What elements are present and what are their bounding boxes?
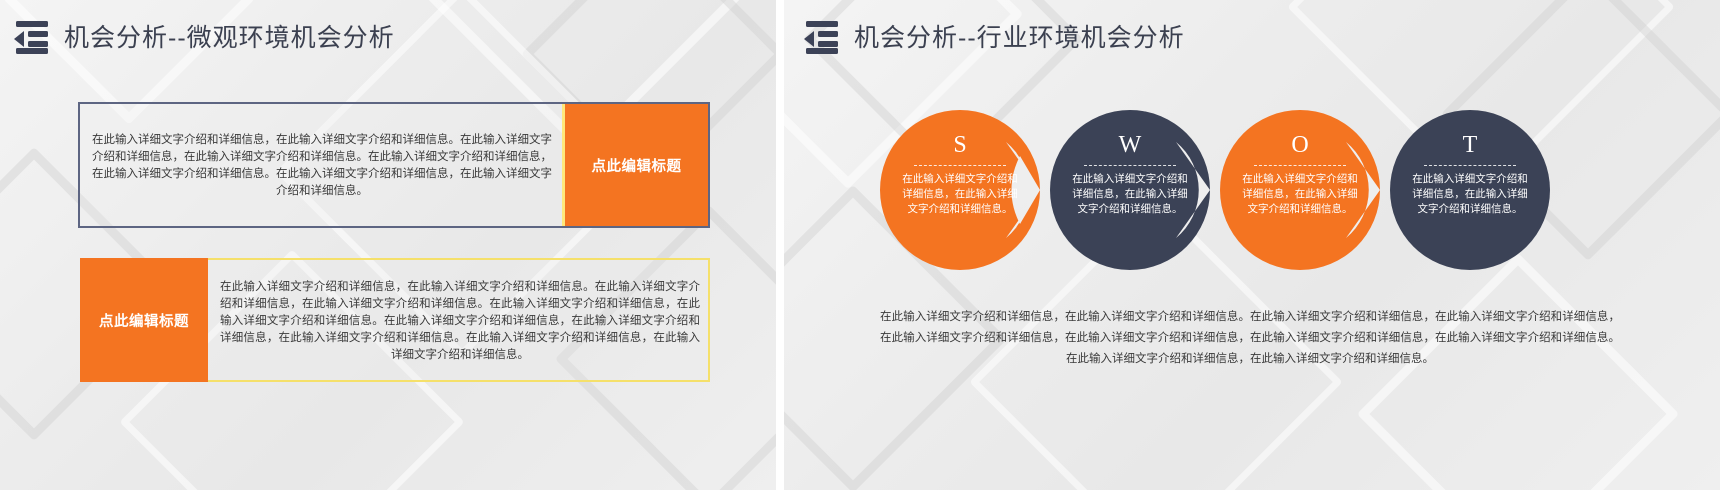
divider-dashed xyxy=(914,165,1006,166)
slide-header: 机会分析--行业环境机会分析 xyxy=(804,18,1185,54)
swot-text: 在此输入详细文字介绍和详细信息，在此输入详细文字介绍和详细信息。 xyxy=(900,172,1020,217)
slide-industry-environment: 机会分析--行业环境机会分析 S 在此输入详细文字介绍和详细信息，在此输入详细文… xyxy=(784,0,1720,490)
page-title: 机会分析--微观环境机会分析 xyxy=(64,18,395,54)
swot-node-w[interactable]: W 在此输入详细文字介绍和详细信息，在此输入详细文字介绍和详细信息。 xyxy=(1050,110,1210,270)
swot-letter: S xyxy=(953,132,966,158)
content-box-bottom-text: 在此输入详细文字介绍和详细信息，在此输入详细文字介绍和详细信息。在此输入详细文字… xyxy=(208,260,708,380)
slide-deck: 机会分析--微观环境机会分析 在此输入详细文字介绍和详细信息，在此输入详细文字介… xyxy=(0,0,1720,490)
edit-title-label: 点此编辑标题 xyxy=(592,155,682,176)
swot-node-t[interactable]: T 在此输入详细文字介绍和详细信息，在此输入详细文字介绍和详细信息。 xyxy=(1390,110,1550,270)
slide-micro-environment: 机会分析--微观环境机会分析 在此输入详细文字介绍和详细信息，在此输入详细文字介… xyxy=(0,0,776,490)
collapse-left-icon[interactable] xyxy=(804,19,838,53)
divider-dashed xyxy=(1084,165,1176,166)
paragraph: 在此输入详细文字介绍和详细信息，在此输入详细文字介绍和详细信息。在此输入详细文字… xyxy=(880,306,1620,369)
paragraph: 在此输入详细文字介绍和详细信息，在此输入详细文字介绍和详细信息。在此输入详细文字… xyxy=(220,278,700,363)
swot-text: 在此输入详细文字介绍和详细信息，在此输入详细文字介绍和详细信息。 xyxy=(1240,172,1360,217)
background-texture xyxy=(0,0,776,490)
content-box-bottom[interactable]: 点此编辑标题 在此输入详细文字介绍和详细信息，在此输入详细文字介绍和详细信息。在… xyxy=(80,258,710,382)
edit-title-block-right[interactable]: 点此编辑标题 xyxy=(562,104,708,226)
swot-diagram: S 在此输入详细文字介绍和详细信息，在此输入详细文字介绍和详细信息。 W 在此输… xyxy=(880,110,1550,270)
swot-letter: W xyxy=(1119,132,1142,158)
swot-text: 在此输入详细文字介绍和详细信息，在此输入详细文字介绍和详细信息。 xyxy=(1410,172,1530,217)
divider-dashed xyxy=(1254,165,1346,166)
paragraph: 在此输入详细文字介绍和详细信息，在此输入详细文字介绍和详细信息。在此输入详细文字… xyxy=(92,131,552,199)
swot-letter: O xyxy=(1291,132,1308,158)
content-box-top[interactable]: 在此输入详细文字介绍和详细信息，在此输入详细文字介绍和详细信息。在此输入详细文字… xyxy=(78,102,710,228)
slide-divider xyxy=(776,0,784,490)
swot-node-s[interactable]: S 在此输入详细文字介绍和详细信息，在此输入详细文字介绍和详细信息。 xyxy=(880,110,1040,270)
collapse-left-icon[interactable] xyxy=(14,19,48,53)
edit-title-block-left[interactable]: 点此编辑标题 xyxy=(80,258,208,382)
divider-dashed xyxy=(1424,165,1516,166)
swot-node-o[interactable]: O 在此输入详细文字介绍和详细信息，在此输入详细文字介绍和详细信息。 xyxy=(1220,110,1380,270)
swot-letter: T xyxy=(1463,132,1478,158)
slide-header: 机会分析--微观环境机会分析 xyxy=(14,18,395,54)
footer-paragraph-block: 在此输入详细文字介绍和详细信息，在此输入详细文字介绍和详细信息。在此输入详细文字… xyxy=(880,306,1620,369)
swot-text: 在此输入详细文字介绍和详细信息，在此输入详细文字介绍和详细信息。 xyxy=(1070,172,1190,217)
content-box-top-text: 在此输入详细文字介绍和详细信息，在此输入详细文字介绍和详细信息。在此输入详细文字… xyxy=(80,104,562,226)
edit-title-label: 点此编辑标题 xyxy=(99,310,189,331)
page-title: 机会分析--行业环境机会分析 xyxy=(854,18,1185,54)
